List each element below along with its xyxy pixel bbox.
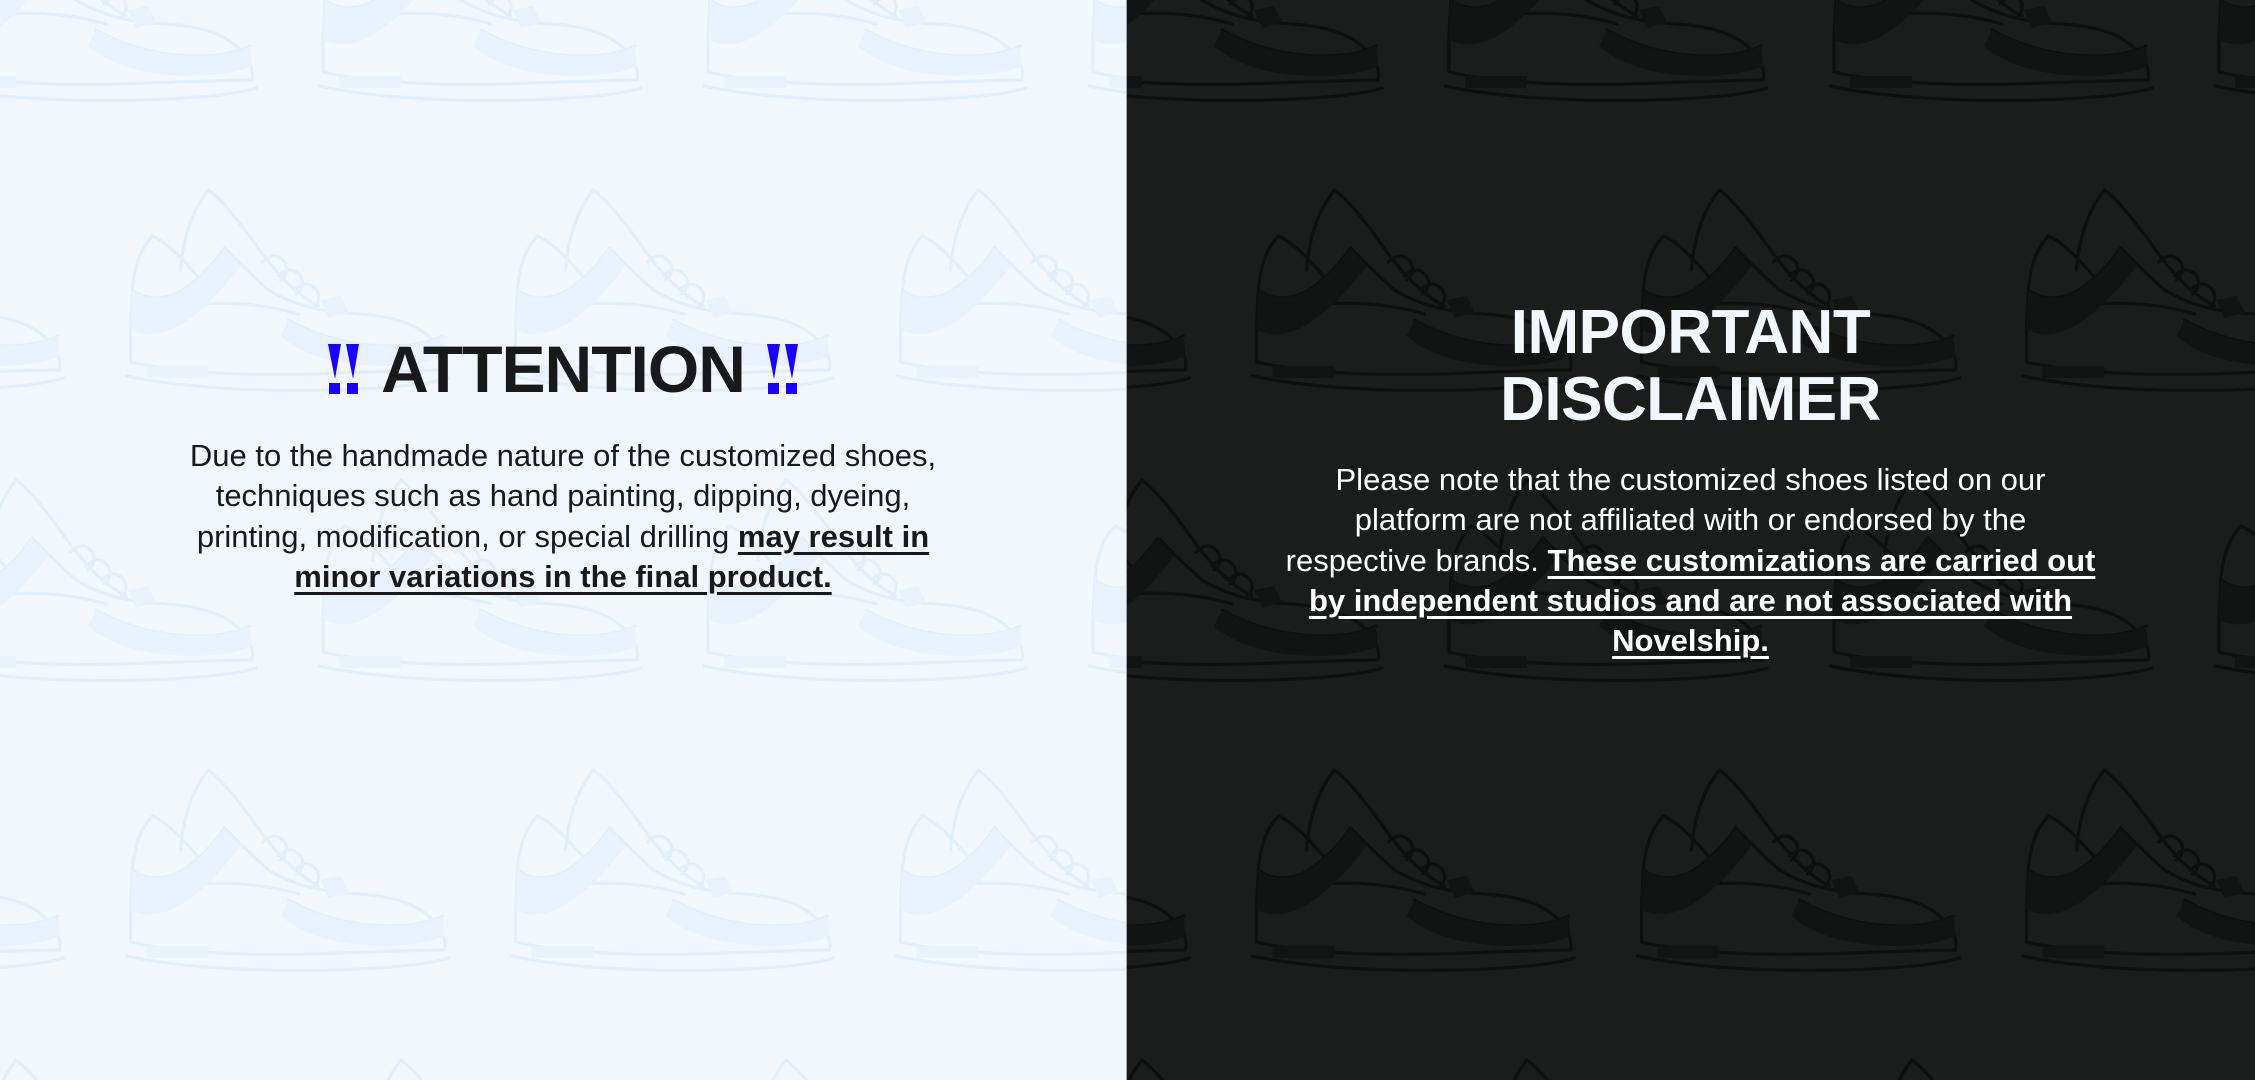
customization-notice-banner: ATTENTION Due to the handmade nature of …	[0, 0, 2255, 1080]
attention-content: ATTENTION Due to the handmade nature of …	[0, 0, 1126, 597]
attention-body: Due to the handmade nature of the custom…	[163, 436, 963, 597]
disclaimer-heading-line-2: DISCLAIMER	[1500, 367, 1881, 434]
panel-divider	[1126, 0, 1127, 1080]
disclaimer-heading-line-1: IMPORTANT	[1500, 300, 1881, 367]
disclaimer-panel: IMPORTANT DISCLAIMER Please note that th…	[1126, 0, 2255, 1080]
double-exclamation-icon	[767, 344, 798, 394]
attention-heading: ATTENTION	[328, 336, 798, 402]
disclaimer-heading: IMPORTANT DISCLAIMER	[1500, 300, 1881, 434]
disclaimer-body: Please note that the customized shoes li…	[1281, 460, 2101, 661]
attention-heading-text: ATTENTION	[381, 336, 745, 402]
attention-panel: ATTENTION Due to the handmade nature of …	[0, 0, 1126, 1080]
double-exclamation-icon	[328, 344, 359, 394]
disclaimer-content: IMPORTANT DISCLAIMER Please note that th…	[1126, 0, 2255, 661]
